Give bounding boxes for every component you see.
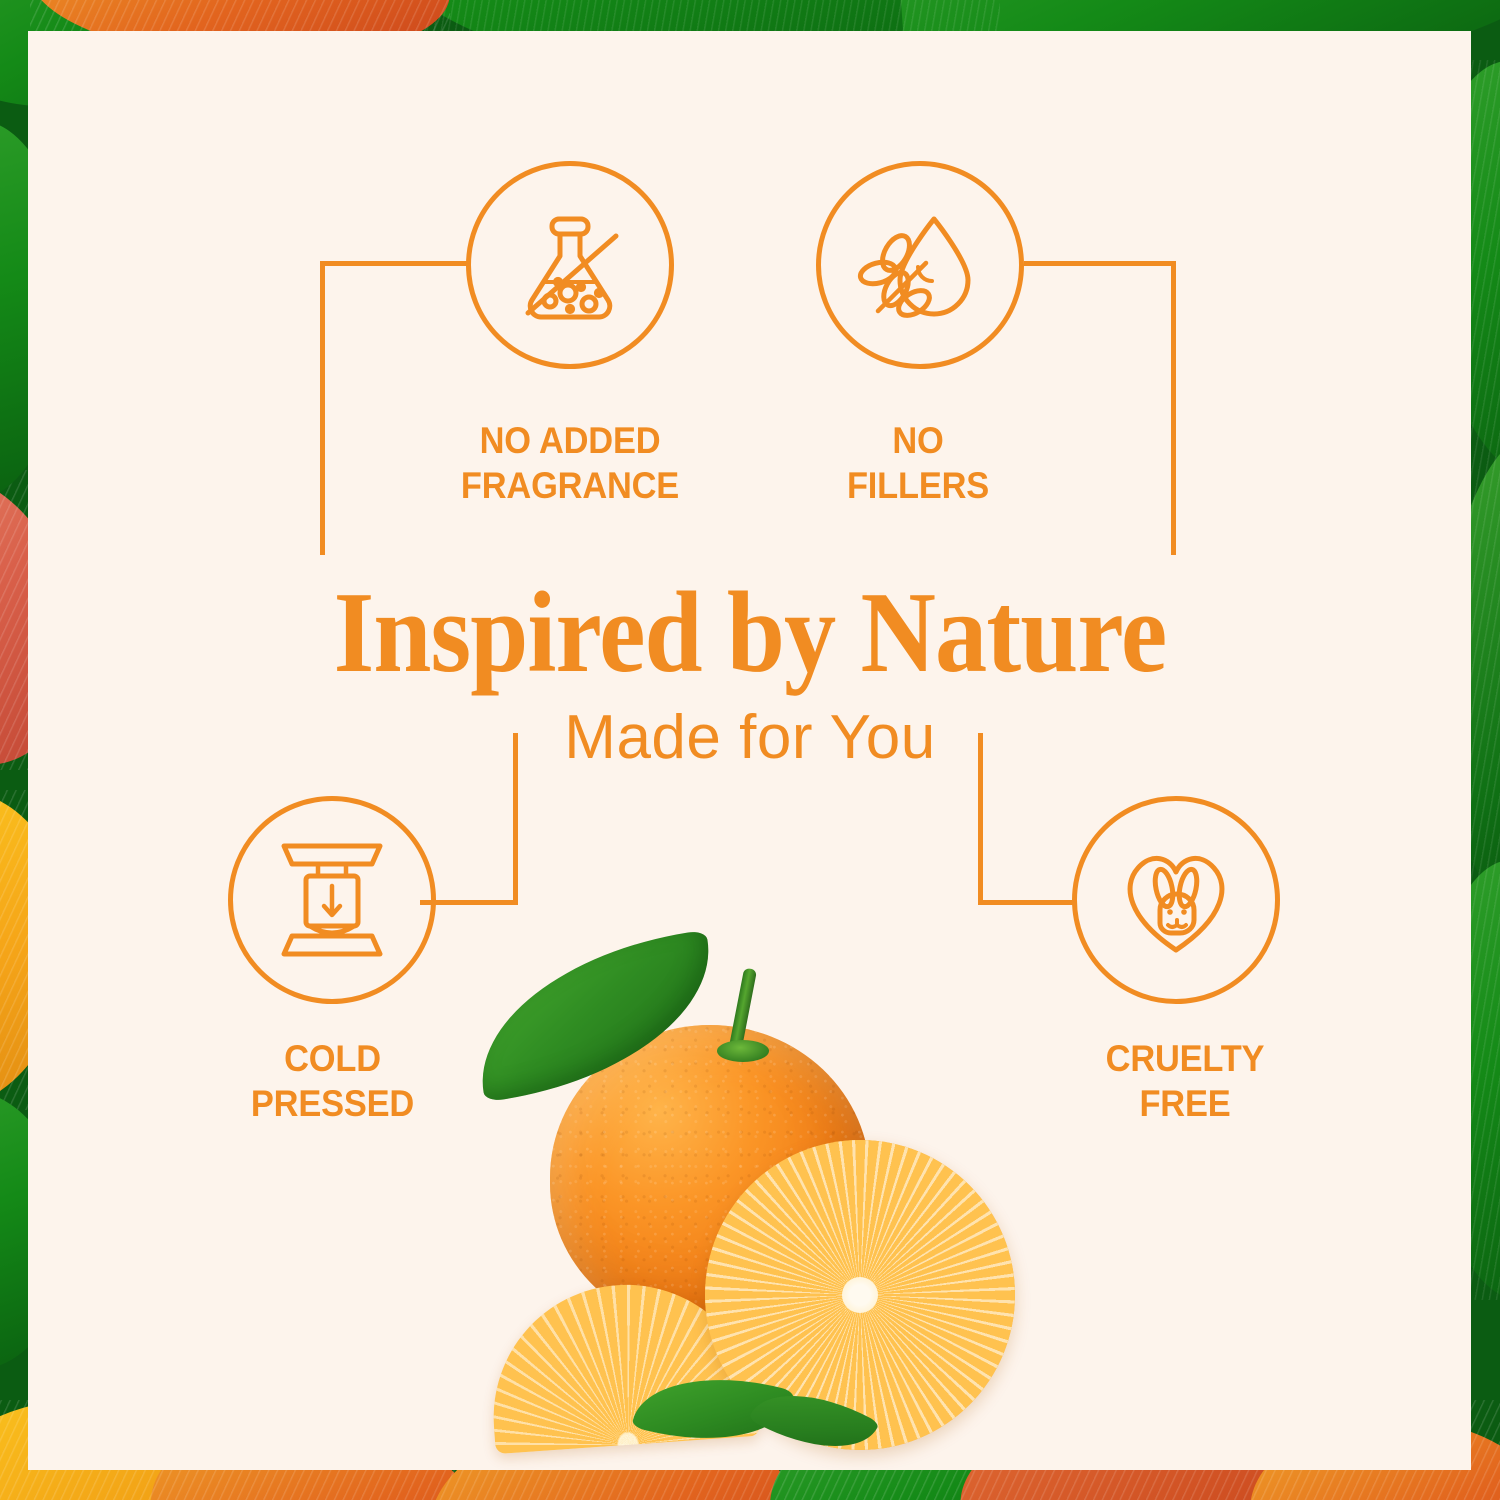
feature-badge-cruelty-free[interactable] bbox=[1072, 796, 1280, 1004]
feature-badge-no-added-fragrance[interactable] bbox=[466, 161, 674, 369]
rabbit-heart-icon bbox=[1112, 838, 1240, 962]
page-title: Inspired by Nature bbox=[75, 575, 1425, 691]
press-machine-icon bbox=[272, 836, 392, 964]
orange-slice-core bbox=[842, 1277, 878, 1313]
connector-line-top-left-horizontal bbox=[320, 261, 470, 266]
connector-line-top-right-horizontal bbox=[1024, 261, 1176, 266]
flask-no-chemicals-icon bbox=[506, 201, 634, 329]
page-subtitle: Made for You bbox=[0, 707, 1500, 769]
connector-line-top-right-vertical bbox=[1171, 261, 1176, 555]
product-feature-infographic: NO ADDED FRAGRANCE NO FILLERS bbox=[0, 0, 1500, 1500]
feature-label-no-fillers: NO FILLERS bbox=[751, 418, 1086, 508]
feature-badge-cold-pressed[interactable] bbox=[228, 796, 436, 1004]
orange-fruit-composition bbox=[455, 940, 1055, 1470]
feature-label-no-added-fragrance: NO ADDED FRAGRANCE bbox=[384, 418, 756, 508]
orange-calyx bbox=[717, 1040, 769, 1062]
feature-badge-no-fillers[interactable] bbox=[816, 161, 1024, 369]
connector-line-top-left-vertical bbox=[320, 261, 325, 555]
droplet-leaf-icon bbox=[856, 201, 984, 329]
connector-line-bottom-right-horizontal bbox=[978, 900, 1076, 905]
